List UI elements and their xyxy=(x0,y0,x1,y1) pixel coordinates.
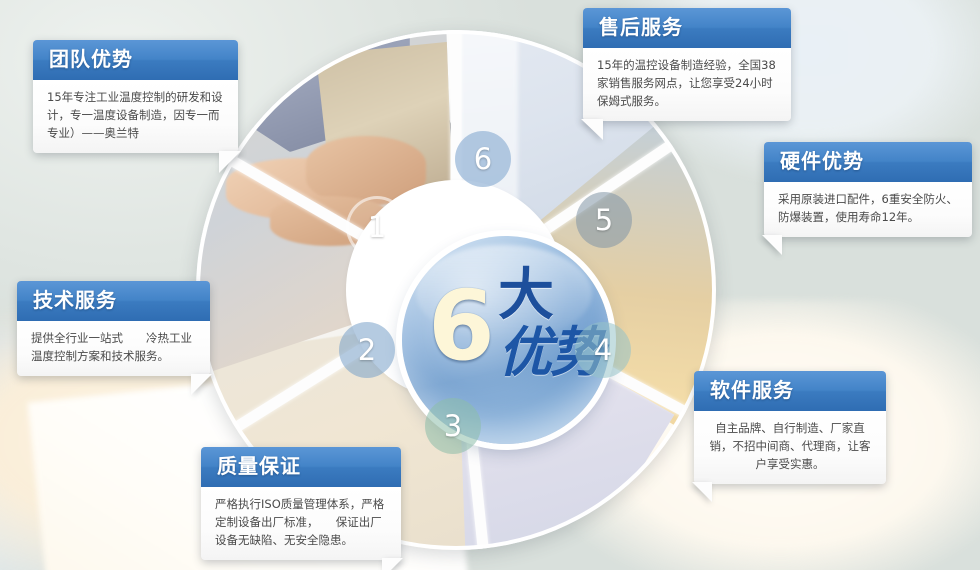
card-title-team: 团队优势 xyxy=(33,40,238,80)
card-tail xyxy=(762,235,782,255)
card-title-tech: 技术服务 xyxy=(17,281,210,321)
card-body-software: 自主品牌、自行制造、厂家直销，不招中间商、代理商，让客户享受实惠。 xyxy=(694,411,886,484)
callout-card-team[interactable]: 团队优势 15年专注工业温度控制的研发和设计，专一温度设备制造，因专一而专业）—… xyxy=(33,40,238,153)
card-title-software: 软件服务 xyxy=(694,371,886,411)
card-tail xyxy=(581,119,603,140)
card-body-hardware: 采用原装进口配件，6重安全防火、防爆装置，使用寿命12年。 xyxy=(764,182,972,237)
center-number: 6 xyxy=(428,278,495,374)
callout-card-tech[interactable]: 技术服务 提供全行业一站式 冷热工业温度控制方案和技术服务。 xyxy=(17,281,210,376)
callout-card-software[interactable]: 软件服务 自主品牌、自行制造、厂家直销，不招中间商、代理商，让客户享受实惠。 xyxy=(694,371,886,484)
callout-card-quality[interactable]: 质量保证 严格执行ISO质量管理体系，严格定制设备出厂标准， 保证出厂设备无缺陷… xyxy=(201,447,401,560)
callout-card-hardware[interactable]: 硬件优势 采用原装进口配件，6重安全防火、防爆装置，使用寿命12年。 xyxy=(764,142,972,237)
callout-card-aftersale[interactable]: 售后服务 15年的温控设备制造经验，全国38家销售服务网点，让您享受24小时保姆… xyxy=(583,8,791,121)
center-big-char: 大 xyxy=(498,268,554,324)
bullet-2[interactable]: 2 xyxy=(339,322,395,378)
bullet-6[interactable]: 6 xyxy=(455,131,511,187)
card-tail xyxy=(382,558,403,570)
card-title-quality: 质量保证 xyxy=(201,447,401,487)
card-body-quality: 严格执行ISO质量管理体系，严格定制设备出厂标准， 保证出厂设备无缺陷、无安全隐… xyxy=(201,487,401,560)
card-tail xyxy=(191,374,212,395)
card-title-hardware: 硬件优势 xyxy=(764,142,972,182)
bullet-1[interactable]: 1 xyxy=(346,196,408,258)
card-tail xyxy=(219,151,241,173)
card-tail xyxy=(692,482,712,502)
card-body-tech: 提供全行业一站式 冷热工业温度控制方案和技术服务。 xyxy=(17,321,210,376)
card-title-aftersale: 售后服务 xyxy=(583,8,791,48)
bullet-5[interactable]: 5 xyxy=(576,192,632,248)
bullet-4[interactable]: 4 xyxy=(575,322,631,378)
card-body-team: 15年专注工业温度控制的研发和设计，专一温度设备制造，因专一而专业）——奥兰特 xyxy=(33,80,238,153)
card-body-aftersale: 15年的温控设备制造经验，全国38家销售服务网点，让您享受24小时保姆式服务。 xyxy=(583,48,791,121)
bullet-3[interactable]: 3 xyxy=(425,398,481,454)
infographic-stage: STOCK MARKET DATA INTC 440.96 NASDAQ GLO… xyxy=(0,0,980,570)
